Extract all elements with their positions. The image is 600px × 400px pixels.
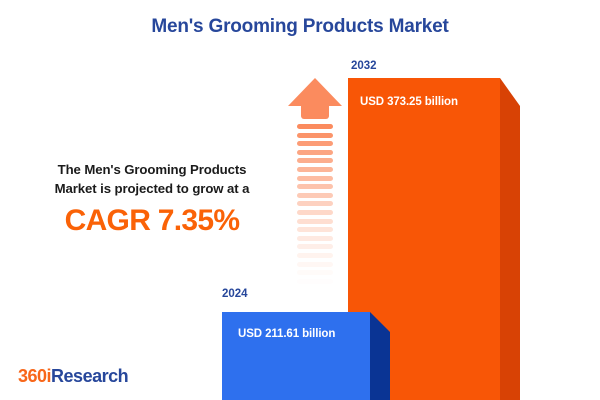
brand-logo-part-2: Research bbox=[51, 366, 128, 386]
infographic-canvas: Men's Grooming Products Market The Men's… bbox=[0, 0, 600, 400]
arrow-stripe bbox=[297, 141, 333, 146]
arrow-stripe bbox=[297, 219, 333, 224]
bar-base-2024 bbox=[222, 312, 370, 400]
arrow-stripe bbox=[297, 167, 333, 172]
arrow-stripe bbox=[297, 279, 333, 284]
brand-logo-part-1: 360i bbox=[18, 366, 51, 386]
arrow-stripe bbox=[297, 201, 333, 206]
arrow-stripe bbox=[297, 227, 333, 232]
growth-arrow-icon bbox=[288, 78, 342, 293]
page-title: Men's Grooming Products Market bbox=[0, 16, 600, 38]
bar-base-bevel bbox=[370, 312, 390, 332]
bar-forecast-side bbox=[500, 106, 520, 400]
brand-logo: 360iResearch bbox=[18, 366, 128, 387]
bar-forecast-value-label: USD 373.25 billion bbox=[360, 96, 458, 108]
arrow-neck bbox=[301, 105, 329, 119]
arrow-head-icon bbox=[288, 78, 342, 106]
cagr-value: CAGR 7.35% bbox=[18, 204, 286, 238]
arrow-stripe bbox=[297, 124, 333, 129]
arrow-stripe bbox=[297, 158, 333, 163]
callout-text-block: The Men's Grooming Products Market is pr… bbox=[18, 160, 286, 238]
callout-line-2: Market is projected to grow at a bbox=[18, 179, 286, 198]
arrow-stripe bbox=[297, 133, 333, 138]
arrow-stripe bbox=[297, 253, 333, 258]
arrow-stripe bbox=[297, 270, 333, 275]
arrow-stripe bbox=[297, 244, 333, 249]
bar-forecast-year-label: 2032 bbox=[351, 60, 377, 72]
arrow-stripe bbox=[297, 184, 333, 189]
arrow-stripe bbox=[297, 176, 333, 181]
arrow-stripe bbox=[297, 193, 333, 198]
bar-forecast-bevel bbox=[500, 78, 520, 106]
callout-line-1: The Men's Grooming Products bbox=[18, 160, 286, 179]
bar-base-side bbox=[370, 332, 390, 400]
arrow-stripe bbox=[297, 262, 333, 267]
bar-base-year-label: 2024 bbox=[222, 288, 248, 300]
arrow-stripes bbox=[297, 124, 333, 292]
arrow-stripe bbox=[297, 287, 333, 292]
arrow-stripe bbox=[297, 210, 333, 215]
arrow-stripe bbox=[297, 150, 333, 155]
arrow-stripe bbox=[297, 236, 333, 241]
bar-base-value-label: USD 211.61 billion bbox=[238, 328, 335, 340]
